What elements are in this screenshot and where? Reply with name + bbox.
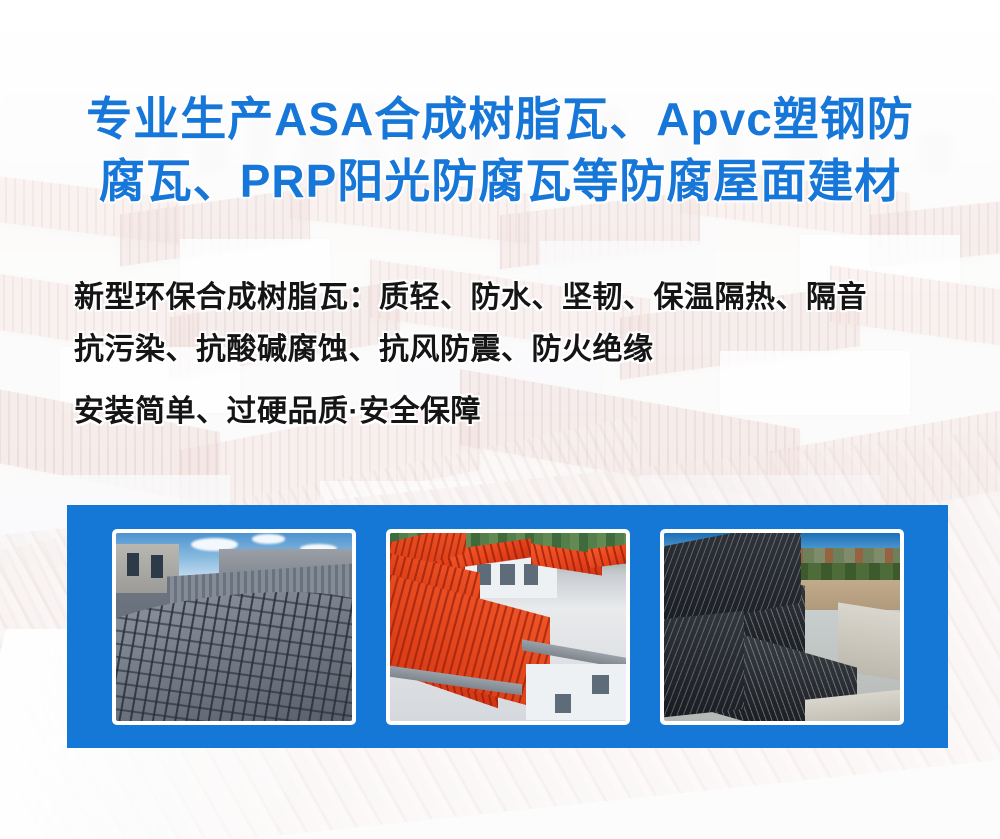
headline-line-1: 专业生产ASA合成树脂瓦、Apvc塑钢防	[0, 88, 1000, 150]
product-banner: 专业生产ASA合成树脂瓦、Apvc塑钢防 腐瓦、PRP阳光防腐瓦等防腐屋面建材 …	[0, 0, 1000, 839]
red-resin-tile-roof-photo	[390, 533, 626, 721]
gallery-photo-frame-3[interactable]	[660, 529, 904, 725]
product-photo-gallery	[67, 505, 948, 748]
banner-headline: 专业生产ASA合成树脂瓦、Apvc塑钢防 腐瓦、PRP阳光防腐瓦等防腐屋面建材	[0, 88, 1000, 212]
subcopy-line-3: 安装简单、过硬品质·安全保障	[74, 386, 974, 438]
black-resin-tile-roof-photo	[664, 533, 900, 721]
subcopy-line-1: 新型环保合成树脂瓦：质轻、防水、坚韧、保温隔热、隔音	[74, 272, 974, 324]
gallery-photo-frame-2[interactable]	[386, 529, 630, 725]
subcopy-line-2: 抗污染、抗酸碱腐蚀、抗风防震、防火绝缘	[74, 324, 974, 376]
gray-resin-tile-roof-photo	[116, 533, 352, 721]
gallery-photo-frame-1[interactable]	[112, 529, 356, 725]
banner-subcopy: 新型环保合成树脂瓦：质轻、防水、坚韧、保温隔热、隔音 抗污染、抗酸碱腐蚀、抗风防…	[74, 272, 974, 438]
headline-line-2: 腐瓦、PRP阳光防腐瓦等防腐屋面建材	[0, 150, 1000, 212]
